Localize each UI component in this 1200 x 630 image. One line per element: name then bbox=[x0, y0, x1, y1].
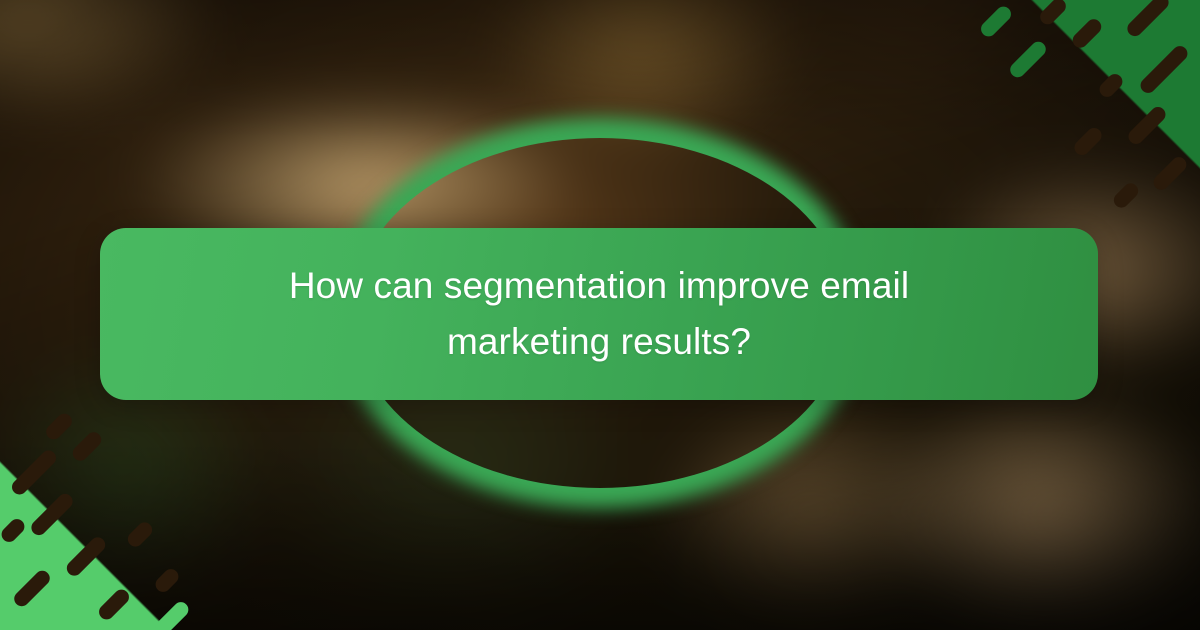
question-card: How can segmentation improve email marke… bbox=[100, 228, 1098, 400]
question-text: How can segmentation improve email marke… bbox=[239, 258, 959, 370]
share-card-canvas: How can segmentation improve email marke… bbox=[0, 0, 1200, 630]
